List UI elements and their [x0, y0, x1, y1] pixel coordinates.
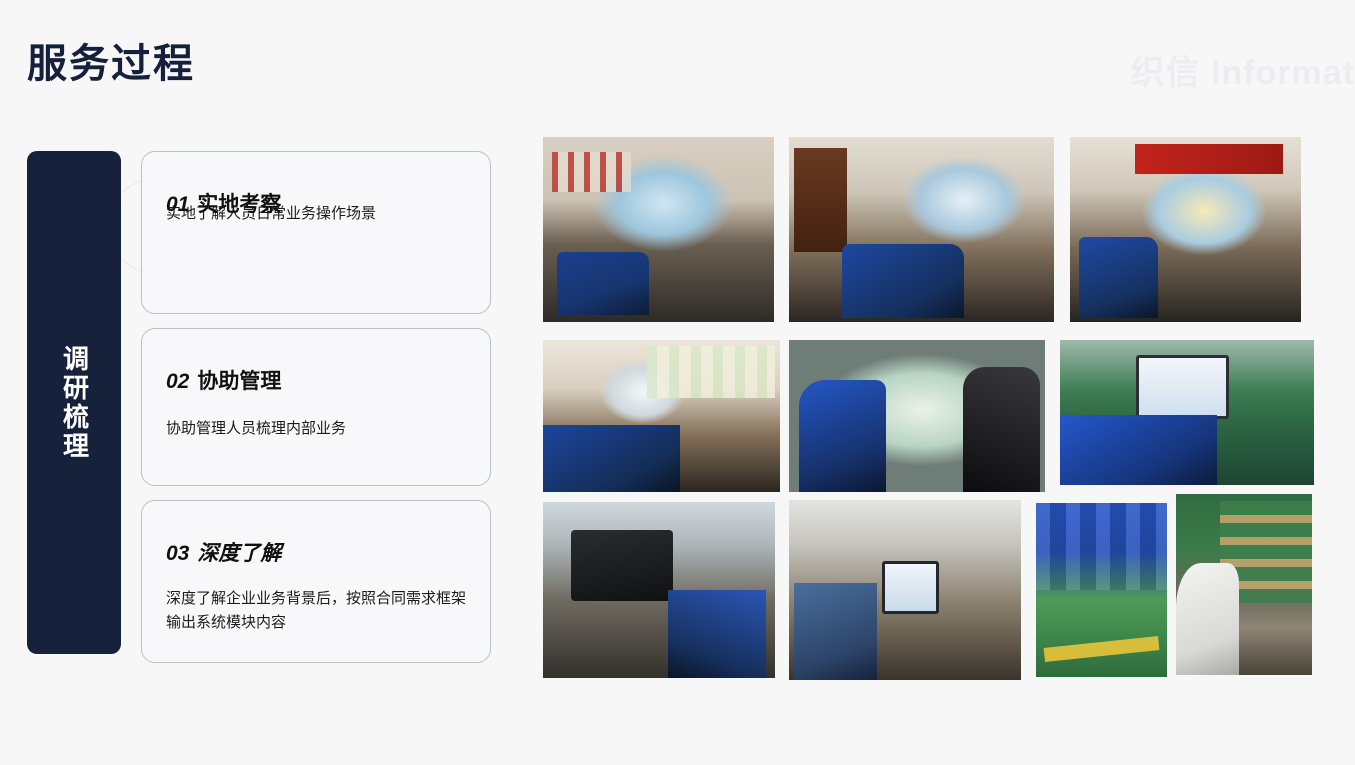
step-description-02: 协助管理人员梳理内部业务	[166, 417, 466, 440]
gallery-photo-6-image	[1060, 340, 1314, 485]
gallery-photo-5-image	[789, 340, 1045, 492]
gallery-photo-9-image	[1036, 503, 1167, 677]
gallery-photo-2[interactable]	[789, 137, 1054, 322]
stage-bar: 调研梳理	[27, 151, 121, 654]
gallery-photo-6[interactable]	[1060, 340, 1314, 485]
gallery-photo-8-image	[789, 500, 1021, 680]
stage-bar-label: 调研梳理	[56, 345, 93, 461]
gallery-photo-7[interactable]	[543, 502, 775, 678]
gallery-photo-3-image	[1070, 137, 1301, 322]
gallery-photo-9[interactable]	[1036, 503, 1167, 677]
gallery-photo-3[interactable]	[1070, 137, 1301, 322]
gallery-photo-1-image	[543, 137, 774, 322]
step-number-01: 01	[166, 193, 189, 216]
step-card-01[interactable]: 01实地考察 实地了解人员日常业务操作场景	[141, 151, 491, 314]
watermark-logo: 织信 Informat	[1131, 45, 1355, 94]
step-number-02: 02	[166, 370, 189, 393]
gallery-photo-5[interactable]	[789, 340, 1045, 492]
gallery-photo-7-image	[543, 502, 775, 678]
gallery-photo-2-image	[789, 137, 1054, 322]
step-card-03[interactable]: 03深度了解 深度了解企业业务背景后，按照合同需求框架输出系统模块内容	[141, 500, 491, 663]
step-number-03: 03	[166, 542, 189, 565]
step-card-02[interactable]: 02协助管理 协助管理人员梳理内部业务	[141, 328, 491, 486]
step-title-03: 深度了解	[197, 542, 281, 565]
step-heading-01: 01实地考察	[166, 192, 296, 218]
step-title-02: 协助管理	[197, 370, 281, 393]
step-heading-03: 03深度了解	[166, 541, 466, 567]
gallery-photo-1[interactable]	[543, 137, 774, 322]
gallery-photo-10-image	[1176, 494, 1312, 675]
gallery-photo-8[interactable]	[789, 500, 1021, 680]
gallery-photo-4[interactable]	[543, 340, 780, 492]
page-title: 服务过程	[27, 40, 195, 88]
gallery-photo-4-image	[543, 340, 780, 492]
step-title-01: 实地考察	[197, 193, 281, 216]
gallery-photo-10[interactable]	[1176, 494, 1312, 675]
step-heading-02: 02协助管理	[166, 369, 466, 395]
step-description-03: 深度了解企业业务背景后，按照合同需求框架输出系统模块内容	[166, 587, 466, 634]
